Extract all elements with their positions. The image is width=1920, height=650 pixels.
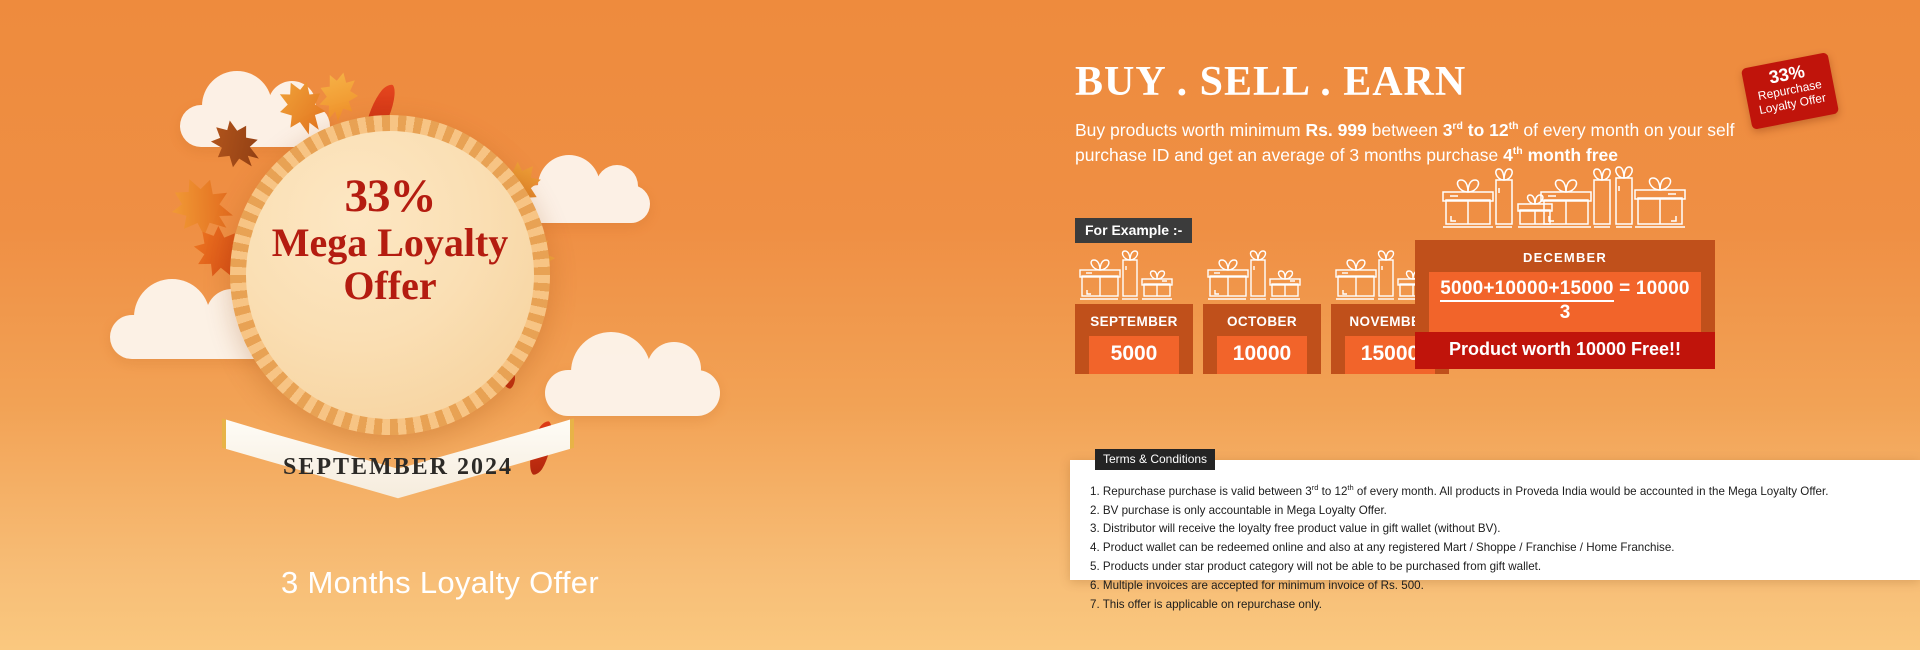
list-item: 4. Product wallet can be redeemed online…	[1090, 539, 1906, 558]
terms-list: 1. Repurchase purchase is valid between …	[1090, 482, 1906, 614]
desc-month-num: 4	[1503, 145, 1513, 165]
medallion-line-3: Offer	[230, 266, 550, 306]
terms-and-conditions-panel: Terms & Conditions 1. Repurchase purchas…	[1070, 460, 1920, 580]
month-box: OCTOBER 10000	[1203, 304, 1321, 374]
december-title: DECEMBER	[1415, 247, 1715, 272]
term-number: 1.	[1090, 485, 1100, 498]
desc-amount: Rs. 999	[1306, 120, 1367, 140]
offer-subtitle: 3 Months Loyalty Offer	[230, 565, 650, 601]
terms-tag: Terms & Conditions	[1095, 449, 1215, 470]
free-product-banner: Product worth 10000 Free!!	[1415, 332, 1715, 369]
calculation-numerator: 5000+10000+15000	[1440, 278, 1613, 302]
desc-day-from: 3	[1443, 120, 1453, 140]
month-value: 5000	[1089, 336, 1179, 374]
month-name: OCTOBER	[1203, 310, 1321, 336]
term-number: 4.	[1090, 541, 1100, 554]
month-value: 10000	[1217, 336, 1307, 374]
left-promo-panel: 33% Mega Loyalty Offer SEPTEMBER 2024 3 …	[0, 0, 1070, 650]
right-info-panel: BUY . SELL . EARN Buy products worth min…	[1070, 0, 1920, 650]
term-number: 7.	[1090, 598, 1100, 611]
term-text-a: This offer is applicable on repurchase o…	[1103, 598, 1322, 611]
term-text-a: Distributor will receive the loyalty fre…	[1103, 522, 1501, 535]
month-box: SEPTEMBER 5000	[1075, 304, 1193, 374]
term-number: 6.	[1090, 579, 1100, 592]
desc-month-suffix: th	[1513, 145, 1523, 157]
term-text-b: to 12	[1318, 485, 1347, 498]
page-title: BUY . SELL . EARN	[1075, 58, 1466, 106]
term-number: 3.	[1090, 522, 1100, 535]
list-item: 6. Multiple invoices are accepted for mi…	[1090, 577, 1906, 596]
desc-part-3: to	[1463, 120, 1489, 140]
month-ribbon: SEPTEMBER 2024	[222, 410, 574, 515]
december-result-block: DECEMBER 5000+10000+15000 = 10000 3 Prod…	[1415, 166, 1715, 369]
december-calculation: 5000+10000+15000 = 10000 3	[1429, 272, 1701, 332]
term-number: 2.	[1090, 504, 1100, 517]
medallion-line-2: Mega Loyalty	[230, 223, 550, 263]
term-text-a: Product wallet can be redeemed online an…	[1103, 541, 1675, 554]
mega-loyalty-medallion: 33% Mega Loyalty Offer	[230, 115, 550, 435]
calculation-equals: = 10000	[1614, 278, 1690, 299]
desc-part-5: month free	[1523, 145, 1618, 165]
term-text-a: Products under star product category wil…	[1103, 560, 1541, 573]
desc-part-1: Buy products worth minimum	[1075, 120, 1306, 140]
calculation-line: 5000+10000+15000 = 10000	[1429, 278, 1701, 300]
term-text-a: BV purchase is only accountable in Mega …	[1103, 504, 1387, 517]
list-item: 3. Distributor will receive the loyalty …	[1090, 520, 1906, 539]
term-text-a: Repurchase purchase is valid between 3	[1103, 485, 1312, 498]
list-item: 7. This offer is applicable on repurchas…	[1090, 596, 1906, 615]
desc-day-to: 12	[1489, 120, 1508, 140]
term-number: 5.	[1090, 560, 1100, 573]
offer-description: Buy products worth minimum Rs. 999 betwe…	[1075, 118, 1755, 168]
term-text-c: of every month. All products in Proveda …	[1354, 485, 1829, 498]
medallion-percent: 33%	[230, 173, 550, 220]
gift-boxes-icon	[1078, 248, 1190, 304]
calculation-denominator: 3	[1429, 302, 1701, 324]
term-text-a: Multiple invoices are accepted for minim…	[1103, 579, 1424, 592]
gift-boxes-icon	[1206, 248, 1318, 304]
list-item: 5. Products under star product category …	[1090, 558, 1906, 577]
list-item: 1. Repurchase purchase is valid between …	[1090, 482, 1906, 502]
month-column-october: OCTOBER 10000	[1203, 248, 1321, 374]
repurchase-offer-stamp: 33% Repurchase Loyalty Offer	[1741, 52, 1839, 130]
for-example-tag: For Example :-	[1075, 218, 1192, 243]
desc-day-to-suffix: th	[1509, 120, 1519, 132]
ribbon-label: SEPTEMBER 2024	[222, 454, 574, 481]
list-item: 2. BV purchase is only accountable in Me…	[1090, 502, 1906, 521]
month-column-september: SEPTEMBER 5000	[1075, 248, 1193, 374]
december-box: DECEMBER 5000+10000+15000 = 10000 3 Prod…	[1415, 240, 1715, 369]
month-name: SEPTEMBER	[1075, 310, 1193, 336]
medallion-text: 33% Mega Loyalty Offer	[230, 173, 550, 306]
desc-part-2: between	[1367, 120, 1443, 140]
gift-boxes-large-icon	[1440, 166, 1690, 236]
desc-day-from-suffix: rd	[1452, 120, 1463, 132]
